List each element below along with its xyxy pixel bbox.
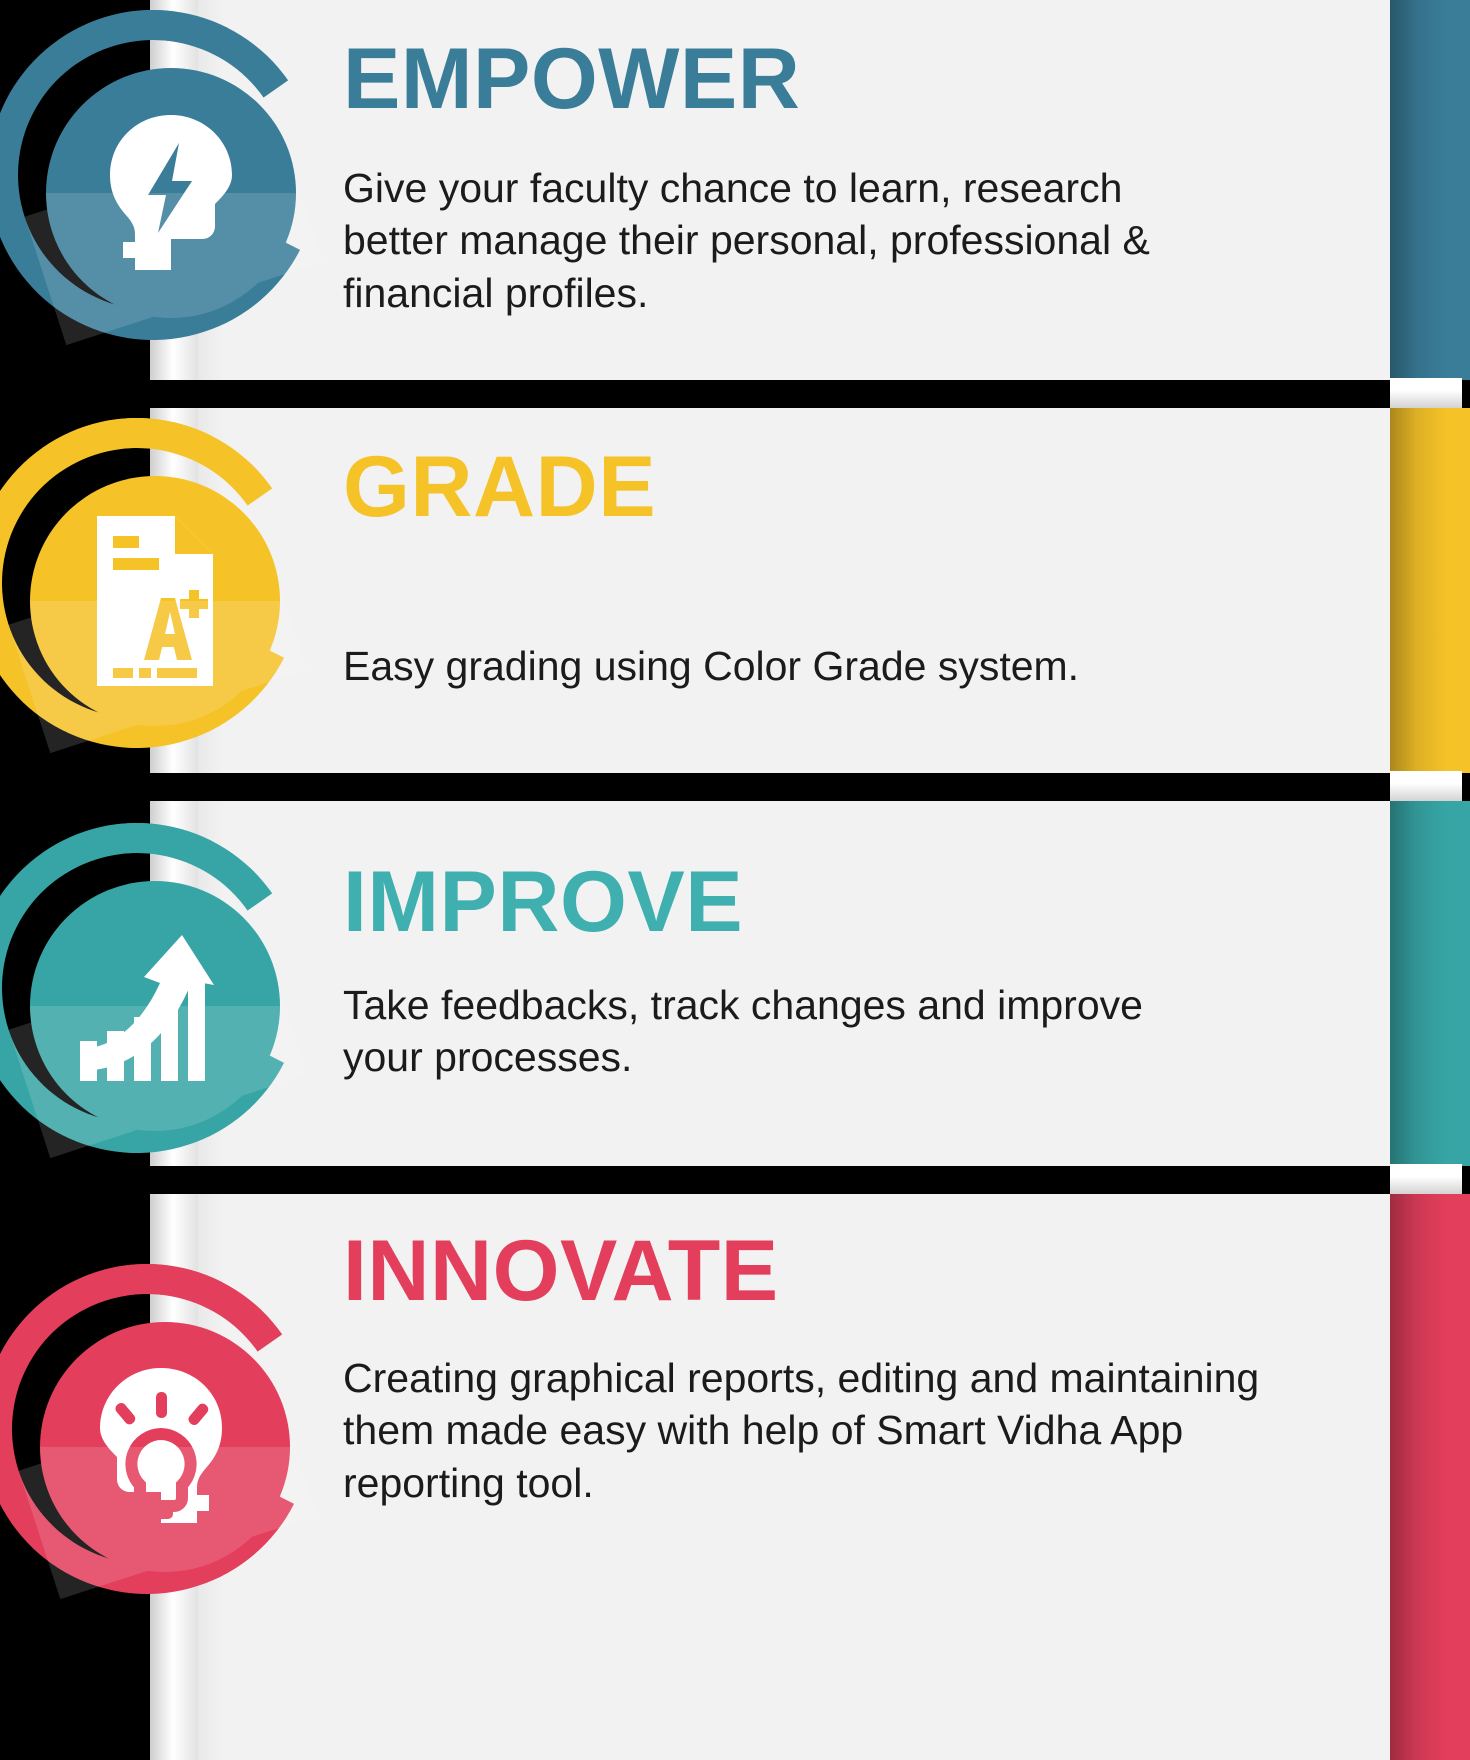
section-title-grade: GRADE bbox=[343, 444, 656, 530]
head-lightning-icon bbox=[46, 68, 296, 318]
head-lightbulb-icon bbox=[40, 1322, 290, 1572]
spine-tab-1 bbox=[1390, 378, 1462, 412]
section-title-innovate: INNOVATE bbox=[343, 1228, 779, 1314]
section-body-innovate: Creating graphical reports, editing and … bbox=[343, 1352, 1263, 1509]
section-title-empower: EMPOWER bbox=[343, 36, 800, 122]
divider-1 bbox=[0, 380, 1470, 408]
medallion-grade[interactable] bbox=[0, 418, 302, 748]
medallion-innovate[interactable] bbox=[0, 1264, 312, 1594]
medallion-disc-innovate bbox=[40, 1322, 290, 1572]
medallion-disc-improve bbox=[30, 881, 280, 1131]
section-body-empower: Give your faculty chance to learn, resea… bbox=[343, 162, 1233, 319]
section-innovate[interactable]: INNOVATE Creating graphical reports, edi… bbox=[0, 1194, 1470, 1760]
medallion-disc-grade bbox=[30, 476, 280, 726]
section-body-grade: Easy grading using Color Grade system. bbox=[343, 640, 1233, 692]
section-improve[interactable]: IMPROVE Take feedbacks, track changes an… bbox=[0, 801, 1470, 1166]
divider-3 bbox=[0, 1166, 1470, 1194]
infographic-canvas: EMPOWER Give your faculty chance to lear… bbox=[0, 0, 1470, 1760]
medallion-disc-empower bbox=[46, 68, 296, 318]
spine-tab-3 bbox=[1390, 1164, 1462, 1198]
spine-empower bbox=[1390, 0, 1470, 380]
spine-innovate bbox=[1390, 1194, 1470, 1760]
section-grade[interactable]: GRADE Easy grading using Color Grade sys… bbox=[0, 408, 1470, 773]
spine-improve bbox=[1390, 801, 1470, 1166]
section-body-improve: Take feedbacks, track changes and improv… bbox=[343, 979, 1233, 1084]
divider-2 bbox=[0, 773, 1470, 801]
growth-chart-arrow-icon bbox=[30, 881, 280, 1131]
medallion-empower[interactable] bbox=[0, 10, 318, 340]
spine-tab-2 bbox=[1390, 771, 1462, 805]
spine-grade bbox=[1390, 408, 1470, 773]
document-a-plus-icon bbox=[30, 476, 280, 726]
medallion-improve[interactable] bbox=[0, 823, 302, 1153]
section-empower[interactable]: EMPOWER Give your faculty chance to lear… bbox=[0, 0, 1470, 380]
section-title-improve: IMPROVE bbox=[343, 859, 743, 945]
